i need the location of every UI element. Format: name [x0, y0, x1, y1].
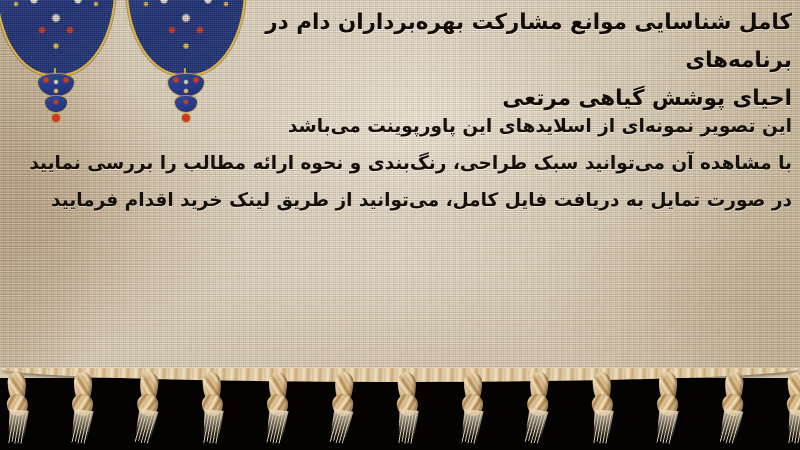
tassel-brush — [717, 408, 745, 445]
tassel-brush — [69, 409, 95, 445]
tassel-brush — [654, 409, 680, 445]
tassel-brush — [591, 409, 615, 444]
fringe-tassel — [524, 371, 554, 444]
fringe-tassel — [134, 371, 164, 444]
fringe-tassel — [4, 371, 34, 444]
tassel-brush — [264, 409, 290, 445]
tassel-brush — [522, 408, 550, 445]
fringe-tassel — [199, 371, 229, 444]
presentation-slide: کامل شناسایی موانع مشارکت بهره‌برداران د… — [0, 0, 800, 450]
slide-body-line-2: با مشاهده آن می‌توانید سبک طراحی، رنگ‌بن… — [22, 145, 792, 182]
slide-body: این تصویر نمونه‌ای از اسلایدهای این پاور… — [22, 108, 792, 219]
fringe-tassel — [784, 371, 800, 444]
tassel-brush — [201, 409, 225, 444]
tassel-brush — [132, 408, 160, 445]
tassel-brush — [459, 409, 485, 445]
tassel-brush — [786, 409, 800, 444]
fringe-tassel — [719, 371, 749, 444]
fringe-tassel — [656, 372, 682, 444]
tassel-brush — [396, 409, 420, 444]
carpet-fringe-band — [0, 368, 800, 450]
fringe-tassel — [266, 372, 292, 444]
fringe-tassel — [71, 372, 97, 444]
tassel-brush — [6, 409, 30, 444]
medallion-body — [0, 0, 114, 74]
slide-body-line-3: در صورت تمایل به دریافت فایل کامل، می‌تو… — [22, 182, 792, 219]
persian-carpet-medallion-left — [0, 0, 114, 74]
fringe-tassel — [461, 372, 487, 444]
fringe-tassel — [394, 371, 424, 444]
slide-body-line-1: این تصویر نمونه‌ای از اسلایدهای این پاور… — [22, 108, 792, 145]
fringe-tassel — [589, 371, 619, 444]
slide-title-line-1: کامل شناسایی موانع مشارکت بهره‌برداران د… — [210, 4, 792, 80]
tassel-brush — [327, 408, 355, 445]
fringe-tassel — [329, 371, 359, 444]
slide-title: کامل شناسایی موانع مشارکت بهره‌برداران د… — [210, 4, 792, 118]
